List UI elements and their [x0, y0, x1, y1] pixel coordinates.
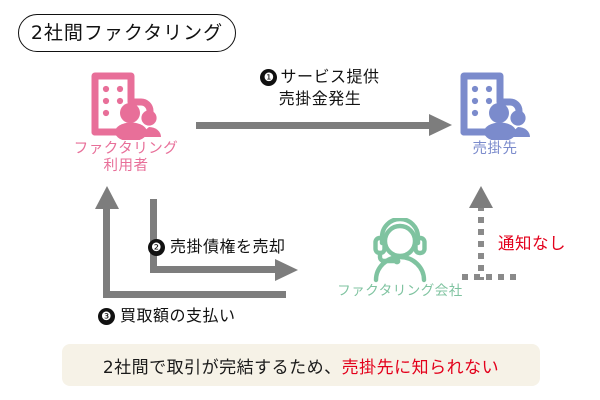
node-label-debtor: 売掛先 [432, 141, 558, 158]
flow-label-step1: ❶サービス提供 売掛金発生 [200, 66, 440, 109]
notice-arrow-horizontal-dotted [462, 274, 517, 280]
summary-text-black: 2社間で取引が完結するため、 [103, 358, 342, 378]
flow-step2-text: 売掛債権を売却 [170, 237, 286, 256]
building-people-icon [62, 68, 190, 140]
diagram-canvas: 2社間ファクタリング ファクタリング 利用者 [0, 0, 600, 400]
headset-operator-icon [330, 218, 470, 284]
node-label-factoring-user: ファクタリング 利用者 [62, 141, 190, 175]
diagram-title: 2社間ファクタリング [31, 24, 223, 43]
flow-label-step2: ❷売掛債権を売却 [148, 233, 286, 257]
node-label-factoring-company: ファクタリング会社 [330, 284, 470, 300]
flow-step1-line1: サービス提供 [280, 67, 379, 86]
flow-step3-text: 買取額の支払い [120, 306, 236, 325]
notice-label: 通知なし [498, 230, 566, 254]
diagram-title-box: 2社間ファクタリング [18, 14, 236, 52]
summary-text-highlight: 売掛先に知られない [342, 358, 500, 378]
summary-banner-text: 2社間で取引が完結するため、売掛先に知られない [103, 353, 499, 378]
summary-banner: 2社間で取引が完結するため、売掛先に知られない [62, 344, 540, 386]
flow-arrow-step2-head [275, 259, 298, 281]
flow-step1-line1-wrap: ❶サービス提供 [200, 66, 440, 88]
notice-arrow-head [469, 186, 493, 208]
flow-arrow-step1-head [429, 114, 452, 136]
flow-step1-line2: 売掛金発生 [200, 88, 440, 110]
notice-arrow-vertical-dotted [478, 205, 484, 280]
step-number-2: ❷ [148, 239, 165, 256]
flow-label-step3: ❸買取額の支払い [98, 302, 236, 326]
flow-arrow-step3-head [95, 186, 119, 209]
flow-arrow-step1-shaft [196, 122, 432, 129]
node-factoring-company: ファクタリング会社 [330, 218, 470, 300]
flow-arrow-step3-horizontal [103, 291, 286, 298]
step-number-1: ❶ [260, 69, 277, 86]
flow-arrow-step3-vertical [103, 208, 110, 294]
step-number-3: ❸ [98, 308, 115, 325]
node-factoring-user: ファクタリング 利用者 [62, 68, 190, 175]
flow-arrow-step2-horizontal [150, 266, 278, 273]
